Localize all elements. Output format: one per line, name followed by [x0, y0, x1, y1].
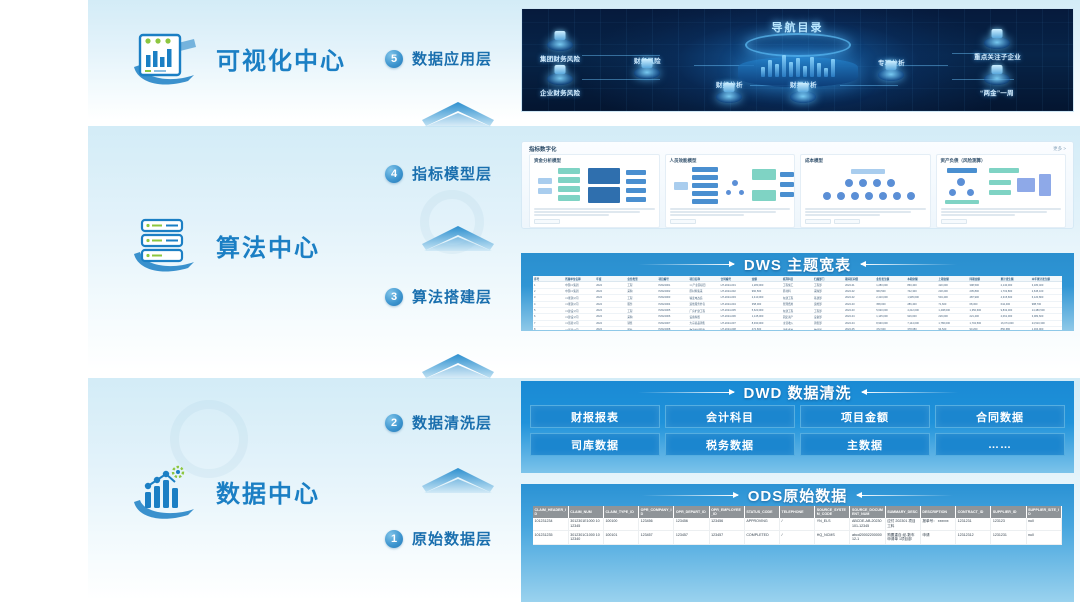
- arrow-right-decoration: [638, 264, 734, 265]
- dwd-tile[interactable]: ……: [935, 433, 1065, 456]
- dwd-tile[interactable]: 司库数据: [530, 433, 660, 456]
- ods-column-header: SOURCE_SYSTEM_CODE: [815, 506, 850, 518]
- dws-table-body: 1中国××集团2024工程P2024001××产业园项目HT-2024-0011…: [533, 282, 1062, 330]
- layer-badge: 5: [385, 50, 403, 68]
- dws-cell: 8: [533, 327, 564, 331]
- model-card-desc: [805, 208, 926, 216]
- dwd-panel[interactable]: DWD 数据清洗 财报报表会计科目项目金额合同数据司库数据税务数据主数据……: [521, 381, 1074, 473]
- data-analytics-icon: [128, 460, 202, 522]
- dws-cell: 2024: [595, 327, 626, 331]
- ods-cell: /: [780, 518, 815, 531]
- viz-node[interactable]: 重点关注子企业: [974, 37, 1021, 61]
- layer-badge: 4: [385, 165, 403, 183]
- dws-cell: 850,680: [1000, 327, 1031, 331]
- dws-cell: 物流仓储服务: [689, 327, 720, 331]
- ods-table-header-row: CLAIM_HEADER_IDCLAIM_NUMCLAIM_TYPE_IDOPR…: [533, 506, 1062, 518]
- dws-cell: 销售费用: [782, 327, 813, 331]
- node-link: [582, 79, 660, 80]
- ods-column-header: SUPPLIER_SITE_ID: [1026, 506, 1061, 518]
- indicator-model-panel[interactable]: 指标数字化 更多 > 资金分析模型: [521, 141, 1074, 229]
- dws-cell: 94,520: [937, 327, 968, 331]
- model-card[interactable]: 资金分析模型: [529, 154, 660, 228]
- ods-cell: HQ_NCMS: [815, 531, 850, 544]
- model-card-title: 资金分析模型: [534, 158, 655, 164]
- table-row[interactable]: 1012312343012301E1000 101234510010012345…: [533, 518, 1062, 531]
- ods-cell: null: [1026, 531, 1061, 544]
- node-puck-icon: [716, 91, 742, 103]
- node-label: 企业财务风险: [540, 87, 580, 97]
- ods-cell: 101231234: [533, 518, 568, 531]
- ods-panel[interactable]: ODS原始数据 CLAIM_HEADER_IDCLAIM_NUMCLAIM_TY…: [521, 484, 1074, 602]
- ods-column-header: SUMMARY_DESC: [885, 506, 920, 518]
- dws-header: DWS 主题宽表: [521, 253, 1074, 275]
- ods-column-header: OPR_COMPANY_ID: [639, 506, 674, 518]
- ods-cell: 1231231: [991, 531, 1026, 544]
- ods-column-header: STATUS_CODE: [744, 506, 779, 518]
- ods-cell: 123457: [674, 531, 709, 544]
- layer-row-4[interactable]: 4 指标模型层: [385, 163, 492, 184]
- ods-cell: 3012301E1000 1012345: [568, 518, 603, 531]
- ods-column-header: CONTRACT_ID: [956, 506, 991, 518]
- node-label: “两金”一周: [980, 87, 1014, 97]
- ods-cell: 12312312: [956, 531, 991, 544]
- ods-cell: 100100: [603, 518, 638, 531]
- model-panel-title: 指标数字化: [529, 145, 557, 153]
- ods-cell: 123456: [674, 518, 709, 531]
- ods-column-header: TELEPHONE: [780, 506, 815, 518]
- node-label: 集团财务风险: [540, 53, 580, 63]
- ods-cell: YN_ELS: [815, 518, 850, 531]
- center-title: 可视化中心: [216, 41, 346, 76]
- ods-cell: 123123: [991, 518, 1026, 531]
- chevron-up-icon: [420, 100, 496, 128]
- node-puck-icon: [634, 67, 660, 79]
- ods-header: ODS原始数据: [521, 484, 1074, 506]
- layer-label: 数据清洗层: [412, 412, 492, 433]
- model-panel-header: 指标数字化 更多 >: [522, 142, 1073, 154]
- node-puck-icon: [878, 69, 904, 81]
- model-card-list: 资金分析模型 人员: [522, 154, 1073, 233]
- slide-canvas: 可视化中心 算法中心: [0, 0, 1080, 607]
- viz-node[interactable]: “两金”一周: [980, 73, 1014, 97]
- dwd-tile[interactable]: 税务数据: [665, 433, 795, 456]
- dwd-tile[interactable]: 主数据: [800, 433, 930, 456]
- center-algorithm: 算法中心: [128, 214, 320, 276]
- dws-cell: 1,304,900: [1031, 327, 1062, 331]
- ods-table-wrapper[interactable]: CLAIM_HEADER_IDCLAIM_NUMCLAIM_TYPE_IDOPR…: [533, 506, 1062, 545]
- model-card-desc: [670, 208, 791, 216]
- node-label: 重点关注子企业: [974, 51, 1021, 61]
- dws-cell: ××贸易公司: [564, 327, 595, 331]
- model-card-title: 人员效能模型: [670, 158, 791, 164]
- node-puck-icon: [547, 39, 573, 51]
- center-title: 算法中心: [216, 228, 320, 263]
- ods-cell: 100101: [603, 531, 638, 544]
- dws-cell: 2024-05: [844, 327, 875, 331]
- ods-cell: null: [1026, 518, 1061, 531]
- model-flow-diagram: [670, 166, 791, 206]
- chevron-up-icon: [420, 466, 496, 494]
- model-card-desc: [941, 208, 1062, 216]
- viz-node[interactable]: 企业财务风险: [540, 73, 580, 97]
- dwd-header: DWD 数据清洗: [521, 381, 1074, 403]
- viz-node[interactable]: 集团财务风险: [540, 39, 580, 63]
- layer-label: 数据应用层: [412, 48, 492, 69]
- ods-cell: abcd2000220000012-1: [850, 531, 885, 544]
- model-card[interactable]: 人员效能模型: [665, 154, 796, 228]
- table-row[interactable]: 8××贸易公司2024服务P2024008物流仓储服务HT-2024-00847…: [533, 327, 1062, 331]
- dws-table-wrapper[interactable]: 序号所属单位名称年度业务类型项目编号项目名称合同编号金额核算科目归属部门期间区间…: [533, 276, 1062, 330]
- hub-title: 导航目录: [772, 19, 824, 35]
- dws-title: DWS 主题宽表: [744, 254, 851, 275]
- dws-cell: 378,080: [906, 327, 937, 331]
- model-card-actions[interactable]: [534, 219, 655, 224]
- bar-chart-report-icon: [128, 27, 202, 89]
- model-card-title: 成本模型: [805, 158, 926, 164]
- center-data: 数据中心: [128, 460, 320, 522]
- layer-row-3[interactable]: 3 算法搭建层: [385, 286, 492, 307]
- ods-column-header: DESCRIPTION: [920, 506, 955, 518]
- ods-cell: 3012301C1000 1012340: [568, 531, 603, 544]
- arrow-left-decoration: [862, 392, 958, 393]
- model-card-desc: [534, 208, 655, 216]
- ods-cell: ABCDE-AB-20230101-12345: [850, 518, 885, 531]
- dws-panel[interactable]: DWS 主题宽表 序号所属单位名称年度业务类型项目编号项目名称合同编号金额核算科…: [521, 253, 1074, 331]
- model-flow-diagram: [534, 166, 655, 206]
- ods-title: ODS原始数据: [748, 485, 848, 506]
- layer-label: 原始数据层: [412, 528, 492, 549]
- viz-node[interactable]: 财报分析: [790, 79, 817, 103]
- ods-cell: APPROVING: [744, 518, 779, 531]
- dwd-title: DWD 数据清洗: [744, 382, 852, 403]
- dwd-tile[interactable]: 财报报表: [530, 405, 660, 428]
- ods-table-body: 1012312343012301E1000 101234510010012345…: [533, 518, 1062, 544]
- ods-cell: 123457: [639, 531, 674, 544]
- center-visualization: 可视化中心: [128, 27, 346, 89]
- ods-cell: 申请: [920, 531, 955, 544]
- model-card-actions[interactable]: [805, 219, 926, 224]
- model-card[interactable]: 资产负债（风险测算）: [936, 154, 1067, 228]
- ods-column-header: CLAIM_TYPE_ID: [603, 506, 638, 518]
- layer-badge: 3: [385, 288, 403, 306]
- arrow-left-decoration: [861, 264, 957, 265]
- chevron-up-icon: [420, 352, 496, 380]
- ods-cell: COMPLETED: [744, 531, 779, 544]
- ods-cell: 购置重自 经-数车 申请单 1项目部: [885, 531, 920, 544]
- viz-node[interactable]: 财务风险: [634, 55, 661, 79]
- dwd-tile-grid: 财报报表会计科目项目金额合同数据司库数据税务数据主数据……: [521, 403, 1074, 456]
- dwd-tile[interactable]: 会计科目: [665, 405, 795, 428]
- layer-badge: 2: [385, 414, 403, 432]
- model-flow-diagram: [805, 166, 926, 206]
- ods-column-header: CLAIM_NUM: [568, 506, 603, 518]
- model-panel-more-link[interactable]: 更多 >: [1053, 146, 1066, 152]
- ods-cell: 应付 202301 项目工料: [885, 518, 920, 531]
- layer-row-2[interactable]: 2 数据清洗层: [385, 412, 492, 433]
- dws-cell: 472,600: [875, 327, 906, 331]
- ods-cell: /: [780, 531, 815, 544]
- layer-label: 算法搭建层: [412, 286, 492, 307]
- viz-node[interactable]: 财经分析: [716, 79, 743, 103]
- model-card[interactable]: 成本模型: [800, 154, 931, 228]
- dws-cell: 物流部: [813, 327, 844, 331]
- layer-badge: 1: [385, 530, 403, 548]
- server-stack-icon: [128, 214, 202, 276]
- ods-table: CLAIM_HEADER_IDCLAIM_NUMCLAIM_TYPE_IDOPR…: [533, 506, 1062, 545]
- model-flow-diagram: [941, 166, 1062, 206]
- layer-row-5[interactable]: 5 数据应用层: [385, 48, 492, 69]
- arrow-right-decoration: [642, 495, 738, 496]
- viz-node[interactable]: 专项分析: [878, 57, 905, 81]
- node-puck-icon: [984, 37, 1010, 49]
- layer-label: 指标模型层: [412, 163, 492, 184]
- ods-cell: 123457: [709, 531, 744, 544]
- ods-column-header: OPR_EMPLOYEE_ID: [709, 506, 744, 518]
- ods-cell: 1231231: [956, 518, 991, 531]
- ods-column-header: SUPPLIER_ID: [991, 506, 1026, 518]
- layer-row-1[interactable]: 1 原始数据层: [385, 528, 492, 549]
- ods-cell: 123456: [709, 518, 744, 531]
- node-puck-icon: [547, 73, 573, 85]
- ods-column-header: SOURCE_DOCUMENT_NUM: [850, 506, 885, 518]
- dws-cell: HT-2024-008: [720, 327, 751, 331]
- node-puck-icon: [984, 73, 1010, 85]
- model-card-actions[interactable]: [941, 219, 1062, 224]
- dws-table: 序号所属单位名称年度业务类型项目编号项目名称合同编号金额核算科目归属部门期间区间…: [533, 276, 1062, 330]
- dws-cell: P2024008: [657, 327, 688, 331]
- ods-cell: 报单号： xxxxxx: [920, 518, 955, 531]
- ods-cell: 101231235: [533, 531, 568, 544]
- arrow-left-decoration: [857, 495, 953, 496]
- visualization-board[interactable]: 导航目录 集团财务风险 企业财务风险 财务风险 财经分析 财报分析 专项分析 重…: [521, 8, 1074, 112]
- model-card-title: 资产负债（风险测算）: [941, 158, 1062, 164]
- arrow-right-decoration: [638, 392, 734, 393]
- ods-column-header: CLAIM_HEADER_ID: [533, 506, 568, 518]
- dws-cell: 服务: [626, 327, 657, 331]
- chevron-up-icon: [420, 224, 496, 252]
- dws-cell: 472,600: [751, 327, 782, 331]
- model-card-actions[interactable]: [670, 219, 791, 224]
- dwd-tile[interactable]: 合同数据: [935, 405, 1065, 428]
- ods-cell: 123456: [639, 518, 674, 531]
- node-puck-icon: [790, 91, 816, 103]
- table-row[interactable]: 1012312353012301C1000 101234010010112345…: [533, 531, 1062, 544]
- dws-cell: 90,200: [969, 327, 1000, 331]
- dwd-tile[interactable]: 项目金额: [800, 405, 930, 428]
- ods-column-header: OPR_DEPART_ID: [674, 506, 709, 518]
- center-title: 数据中心: [216, 474, 320, 509]
